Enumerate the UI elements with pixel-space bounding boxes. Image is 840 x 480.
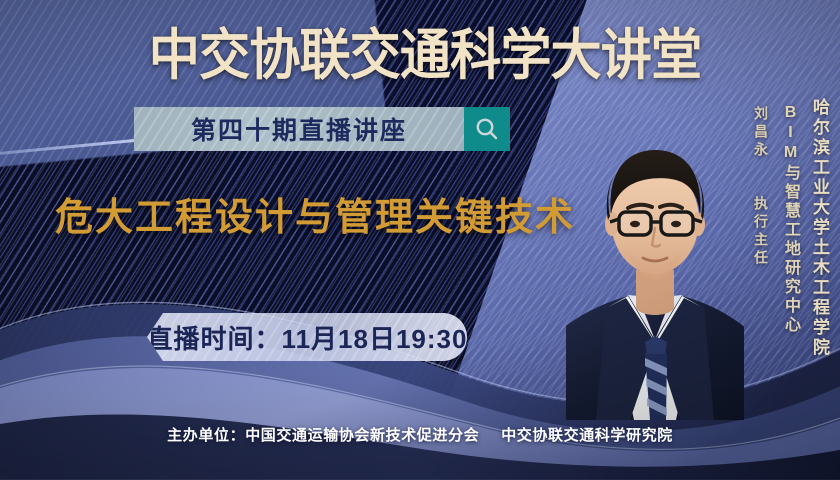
- program-title: 中交协联交通科学大讲堂: [155, 19, 694, 81]
- episode-banner: 第四十期直播讲座: [134, 107, 464, 151]
- promotional-poster: 中交协联交通科学大讲堂 第四十期直播讲座 危大工程设计与管理关键技术 直播时间：…: [0, 0, 840, 480]
- speaker-name: 刘昌永: [753, 106, 768, 160]
- organizer-footer: 主办单位：中国交通运输协会新技术促进分会中交协联交通科学研究院: [0, 424, 840, 445]
- speaker-role: 执行主任: [753, 196, 768, 268]
- organizer-one: 中国交通运输协会新技术促进分会: [245, 427, 479, 444]
- speaker-lab: BIM与智慧工地研究中心: [781, 104, 798, 335]
- speaker-institution: 哈尔滨工业大学土木工程学院: [810, 98, 828, 358]
- lecture-title: 危大工程设计与管理关键技术: [55, 186, 575, 240]
- broadcast-time-label: 直播时间：11月18日19:30: [147, 319, 467, 356]
- episode-banner-label: 第四十期直播讲座: [191, 111, 407, 147]
- broadcast-time-pill: 直播时间：11月18日19:30: [147, 313, 467, 361]
- content-layer: 中交协联交通科学大讲堂 第四十期直播讲座 危大工程设计与管理关键技术 直播时间：…: [0, 0, 840, 480]
- search-icon[interactable]: [464, 107, 510, 151]
- organizer-label: 主办单位：: [167, 427, 245, 444]
- organizer-two: 中交协联交通科学研究院: [501, 427, 673, 444]
